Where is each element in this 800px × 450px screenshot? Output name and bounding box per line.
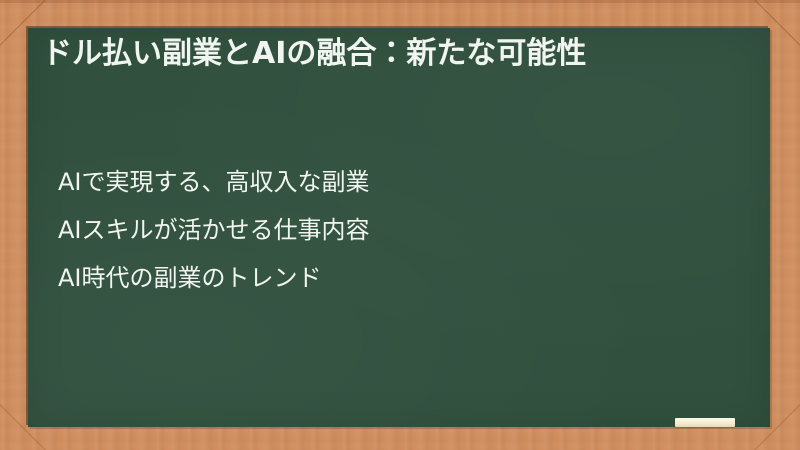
list-item: AI時代の副業のトレンド — [58, 254, 748, 302]
chalkboard-surface: ドル払い副業とAIの融合：新たな可能性 AIで実現する、高収入な副業 AIスキル… — [28, 28, 770, 427]
frame-top-shadow — [0, 0, 800, 3]
chalkboard-slide: ドル払い副業とAIの融合：新たな可能性 AIで実現する、高収入な副業 AIスキル… — [0, 0, 800, 450]
list-item: AIスキルが活かせる仕事内容 — [58, 206, 748, 254]
chalk-stick — [675, 418, 735, 427]
list-item: AIで実現する、高収入な副業 — [58, 158, 748, 206]
slide-title: ドル払い副業とAIの融合：新たな可能性 — [42, 32, 758, 76]
topic-list: AIで実現する、高収入な副業 AIスキルが活かせる仕事内容 AI時代の副業のトレ… — [58, 158, 748, 302]
